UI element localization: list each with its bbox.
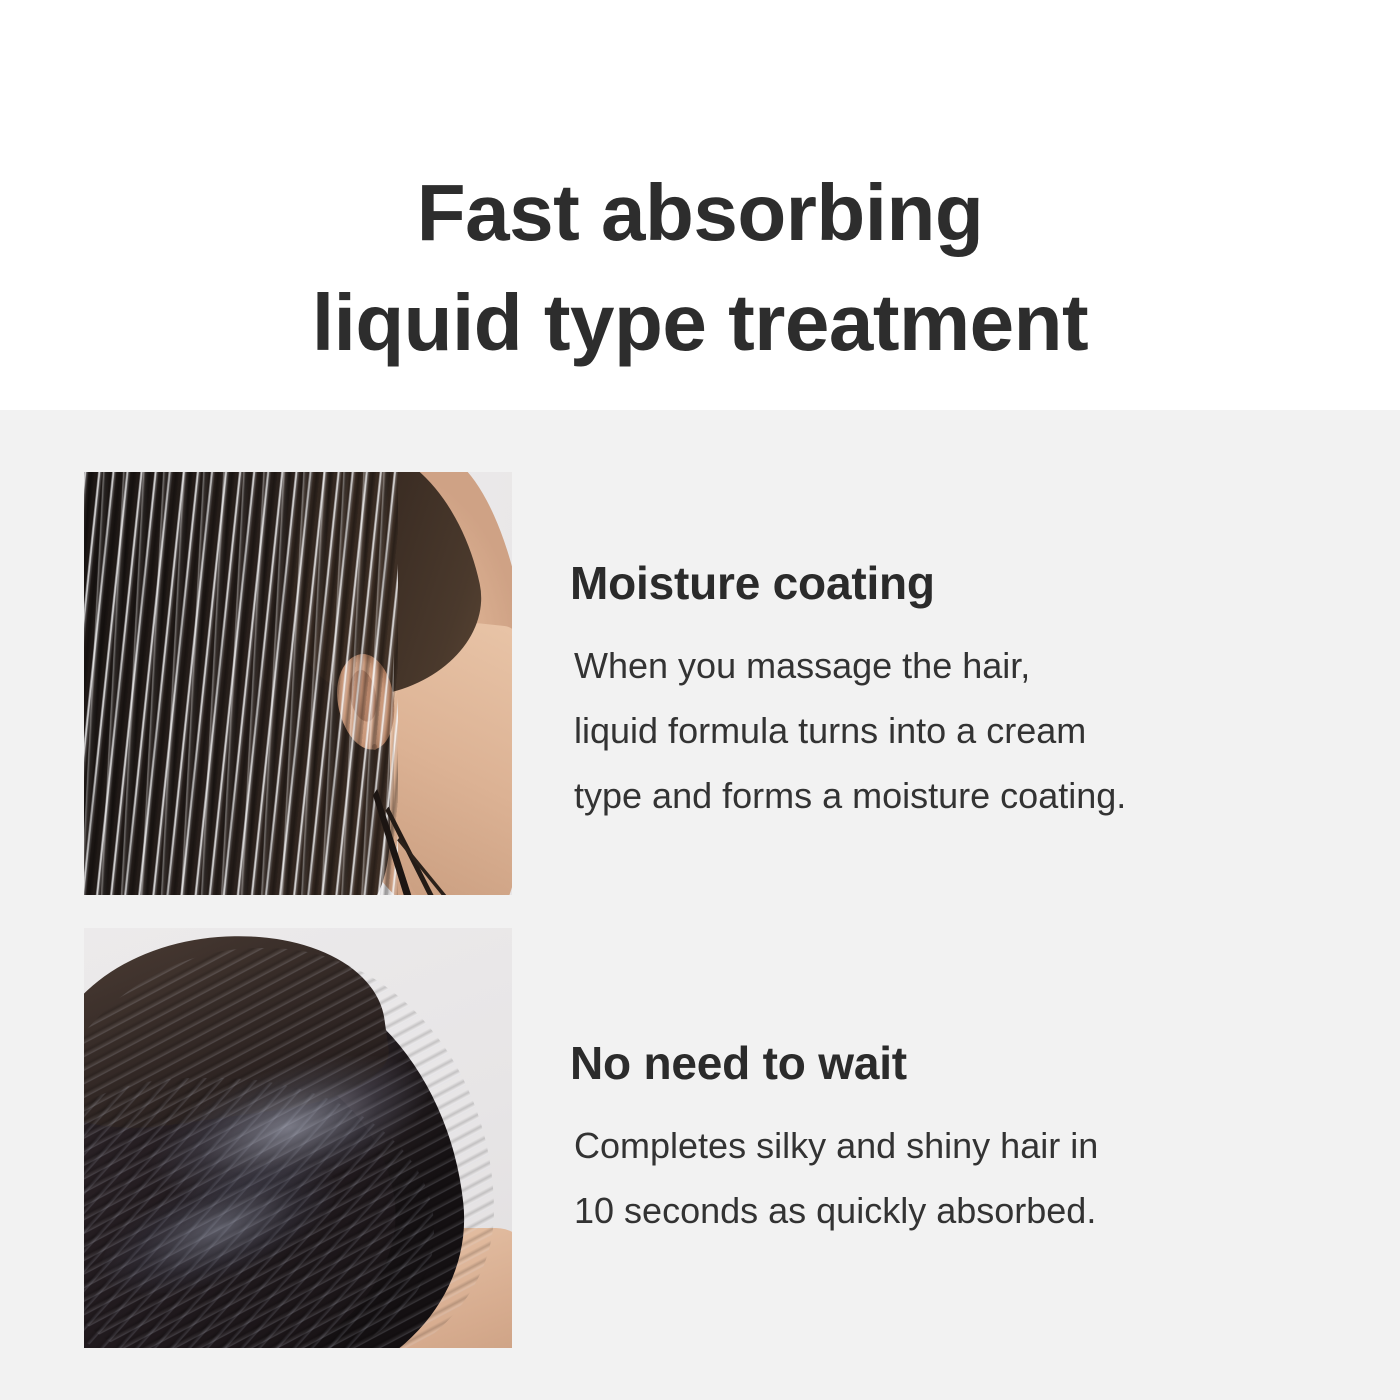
- feature-block-no-need-to-wait: No need to wait Completes silky and shin…: [570, 1035, 1360, 1243]
- feature-description-line: 10 seconds as quickly absorbed.: [574, 1178, 1360, 1243]
- wet-hair-photo-canvas: [84, 472, 512, 895]
- shiny-hair-photo-canvas: [84, 928, 512, 1348]
- feature-description-line: liquid formula turns into a cream: [574, 698, 1360, 763]
- feature-block-moisture-coating: Moisture coating When you massage the ha…: [570, 555, 1360, 828]
- feature-description-line: type and forms a moisture coating.: [574, 763, 1360, 828]
- headline-line-1: Fast absorbing: [0, 158, 1400, 268]
- page-headline: Fast absorbing liquid type treatment: [0, 158, 1400, 378]
- feature-image-wet-hair: [84, 472, 512, 895]
- feature-description-line: Completes silky and shiny hair in: [574, 1113, 1360, 1178]
- feature-title: Moisture coating: [570, 555, 1360, 611]
- feature-description-line: When you massage the hair,: [574, 633, 1360, 698]
- headline-line-2: liquid type treatment: [0, 268, 1400, 378]
- feature-description: Completes silky and shiny hair in 10 sec…: [570, 1113, 1360, 1243]
- promo-page: Fast absorbing liquid type treatment: [0, 0, 1400, 1400]
- feature-title: No need to wait: [570, 1035, 1360, 1091]
- feature-image-shiny-hair: [84, 928, 512, 1348]
- content-section: Moisture coating When you massage the ha…: [0, 410, 1400, 1400]
- header-band: Fast absorbing liquid type treatment: [0, 0, 1400, 410]
- wet-hair-strand-highlights-secondary: [84, 472, 394, 895]
- feature-description: When you massage the hair, liquid formul…: [570, 633, 1360, 828]
